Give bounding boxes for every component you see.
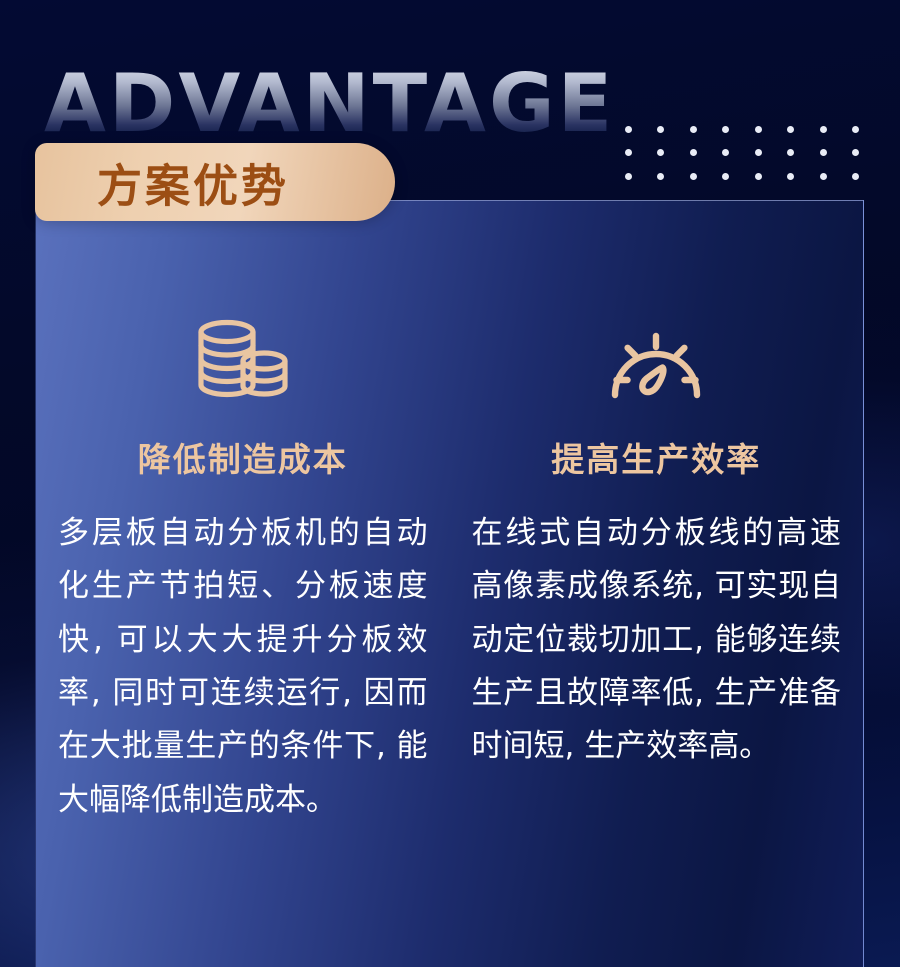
grid-dot <box>852 173 859 180</box>
advantage-card: 降低制造成本 多层板自动分板机的自动化生产节拍短、分板速度快, 可以大大提升分板… <box>36 201 450 827</box>
grid-dot <box>625 149 632 156</box>
dot-grid-decoration <box>612 118 872 188</box>
grid-dot <box>625 173 632 180</box>
grid-dot <box>690 149 697 156</box>
coin-stack-icon <box>191 319 295 411</box>
grid-dot <box>625 126 632 133</box>
section-wordmark: ADVANTAGE <box>44 64 615 144</box>
grid-dot <box>755 126 762 133</box>
grid-dot <box>657 126 664 133</box>
grid-dot <box>690 173 697 180</box>
advantage-card: 提高生产效率 在线式自动分板线的高速高像素成像系统, 可实现自动定位裁切加工, … <box>450 201 864 827</box>
section-title-text: 方案优势 <box>97 150 289 215</box>
advantage-card-title: 提高生产效率 <box>551 433 761 481</box>
grid-dot <box>820 173 827 180</box>
advantage-section: ADVANTAGE 方案优势 <box>0 0 900 967</box>
grid-dot <box>820 149 827 156</box>
grid-dot <box>852 149 859 156</box>
grid-dot <box>690 126 697 133</box>
advantage-card-body: 在线式自动分板线的高速高像素成像系统, 可实现自动定位裁切加工, 能够连续生产且… <box>472 507 842 774</box>
grid-dot <box>657 149 664 156</box>
grid-dot <box>755 173 762 180</box>
section-title-badge: 方案优势 <box>35 143 395 221</box>
grid-dot <box>852 126 859 133</box>
grid-dot <box>722 149 729 156</box>
gauge-speedometer-icon <box>604 319 708 411</box>
grid-dot <box>722 126 729 133</box>
grid-dot <box>787 149 794 156</box>
grid-dot <box>787 126 794 133</box>
grid-dot <box>722 173 729 180</box>
grid-dot <box>657 173 664 180</box>
advantage-card-body: 多层板自动分板机的自动化生产节拍短、分板速度快, 可以大大提升分板效率, 同时可… <box>58 507 428 827</box>
advantage-card-list: 降低制造成本 多层板自动分板机的自动化生产节拍短、分板速度快, 可以大大提升分板… <box>36 201 863 827</box>
grid-dot <box>820 126 827 133</box>
advantage-card-title: 降低制造成本 <box>138 433 348 481</box>
grid-dot <box>787 173 794 180</box>
content-panel: 降低制造成本 多层板自动分板机的自动化生产节拍短、分板速度快, 可以大大提升分板… <box>35 200 864 967</box>
grid-dot <box>755 149 762 156</box>
